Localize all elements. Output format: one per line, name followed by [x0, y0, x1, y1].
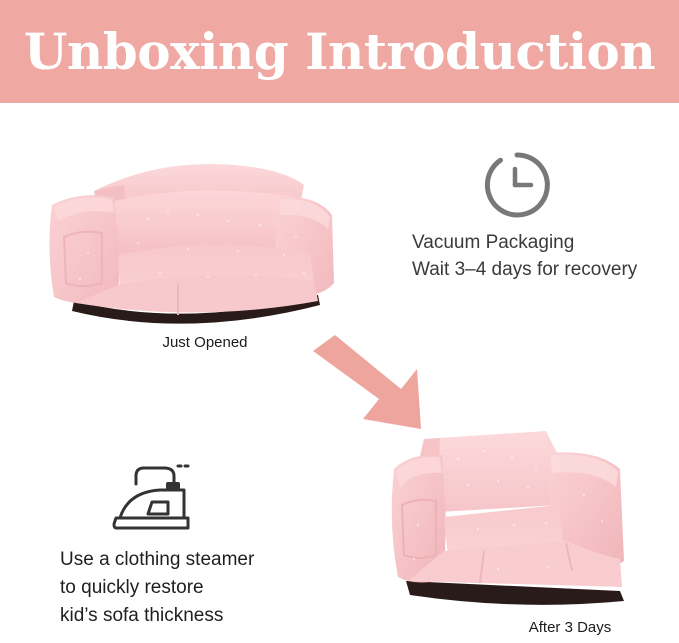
page-title: Unboxing Introduction — [0, 0, 679, 103]
down-right-arrow-icon — [305, 333, 430, 438]
vacuum-line-1: Vacuum Packaging — [412, 229, 637, 256]
clock-icon — [477, 147, 553, 223]
steamer-info-text: Use a clothing steamer to quickly restor… — [60, 546, 254, 630]
clothes-iron-icon — [112, 458, 208, 538]
vacuum-line-2: Wait 3–4 days for recovery — [412, 256, 637, 283]
steamer-line-3: kid’s sofa thickness — [60, 602, 254, 630]
kids-sofa-recovered-image — [388, 425, 668, 620]
caption-after-3-days: After 3 Days — [470, 619, 670, 636]
kids-sofa-compressed-image — [28, 133, 348, 333]
unboxing-introduction-infographic: Unboxing Introduction — [0, 0, 679, 643]
steamer-line-2: to quickly restore — [60, 574, 254, 602]
vacuum-info-text: Vacuum Packaging Wait 3–4 days for recov… — [412, 229, 637, 283]
steamer-line-1: Use a clothing steamer — [60, 546, 254, 574]
header-banner: Unboxing Introduction — [0, 0, 679, 103]
caption-just-opened: Just Opened — [110, 334, 300, 351]
